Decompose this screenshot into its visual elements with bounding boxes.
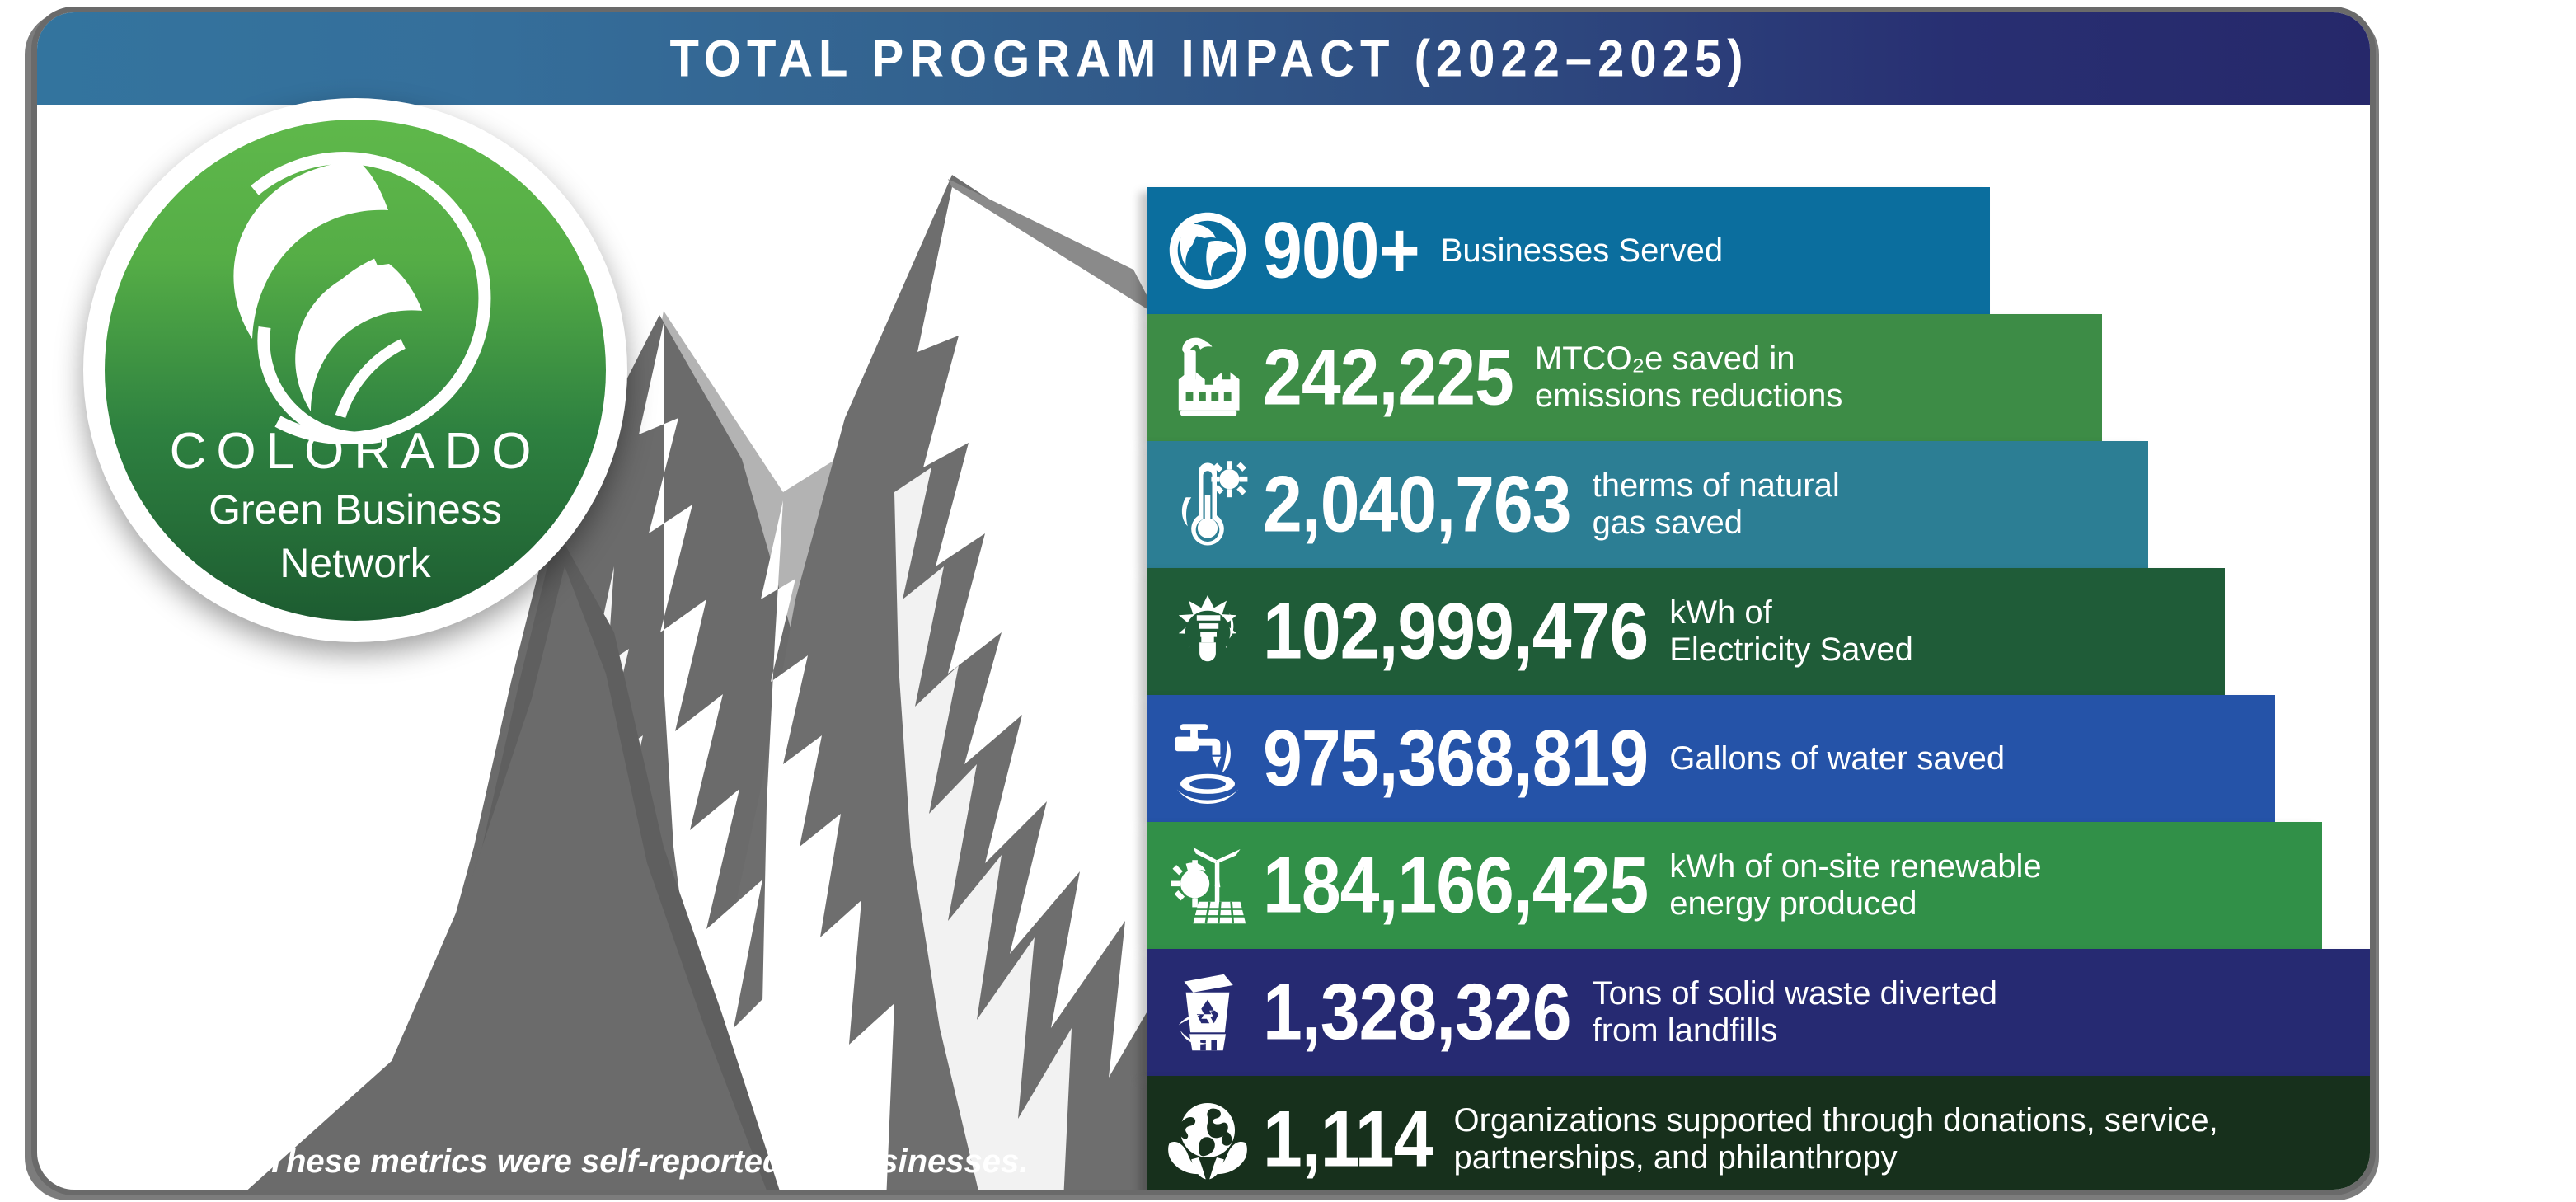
logo-line2-text: Green Business bbox=[105, 489, 606, 531]
metric-row-electricity[interactable]: 102,999,476 kWh of Electricity Saved bbox=[1147, 568, 2225, 695]
faucet-water-leaf-icon bbox=[1162, 709, 1253, 808]
logo-colorado-text: COLORADO bbox=[105, 426, 606, 477]
metric-row-natural-gas[interactable]: 2,040,763 therms of natural gas saved bbox=[1147, 441, 2148, 568]
thermometer-sun-icon bbox=[1162, 455, 1253, 554]
metric-label-line1: Gallons of water saved bbox=[1669, 740, 2005, 777]
metric-label: kWh of on-site renewable energy produced bbox=[1669, 848, 2041, 923]
recycle-bin-icon bbox=[1162, 963, 1253, 1062]
leaf-circle-icon bbox=[1162, 201, 1253, 300]
metric-value: 1,114 bbox=[1263, 1100, 1432, 1179]
metric-label-line2: gas saved bbox=[1593, 505, 1743, 541]
solar-wind-icon bbox=[1162, 836, 1253, 935]
metric-label: Organizations supported through donation… bbox=[1453, 1102, 2217, 1176]
metric-label-line2: emissions reductions bbox=[1535, 378, 1843, 414]
metric-label-line1: Organizations supported through donation… bbox=[1453, 1102, 2217, 1139]
metric-label: Tons of solid waste diverted from landfi… bbox=[1593, 975, 1997, 1049]
metric-value: 184,166,425 bbox=[1263, 846, 1648, 925]
metric-value: 1,328,326 bbox=[1263, 973, 1571, 1052]
factory-leaf-icon bbox=[1162, 328, 1253, 427]
metric-row-organizations[interactable]: 1,114 Organizations supported through do… bbox=[1147, 1076, 2376, 1195]
metric-label: Gallons of water saved bbox=[1669, 740, 2005, 777]
metric-label: kWh of Electricity Saved bbox=[1669, 594, 1913, 669]
metric-label: therms of natural gas saved bbox=[1593, 467, 1840, 542]
metric-label: MTCO₂e saved in emissions reductions bbox=[1535, 340, 1843, 415]
metric-label-line1: therms of natural bbox=[1593, 467, 1840, 504]
lightbulb-sun-icon bbox=[1162, 582, 1253, 681]
hands-globe-icon bbox=[1162, 1090, 1253, 1189]
infographic-card: TOTAL PROGRAM IMPACT (2022–2025) bbox=[31, 7, 2376, 1195]
metric-label-line2: energy produced bbox=[1669, 885, 1917, 922]
metric-row-waste-diverted[interactable]: 1,328,326 Tons of solid waste diverted f… bbox=[1147, 949, 2376, 1076]
metric-label-line1: MTCO₂e saved in bbox=[1535, 340, 1795, 377]
logo-wordmark: COLORADO Green Business Network bbox=[105, 426, 606, 585]
metric-row-businesses-served[interactable]: 900+ Businesses Served bbox=[1147, 187, 1990, 314]
metric-value: 2,040,763 bbox=[1263, 465, 1571, 544]
metric-value: 900+ bbox=[1263, 211, 1419, 290]
metric-value: 975,368,819 bbox=[1263, 719, 1648, 798]
metric-label: Businesses Served bbox=[1441, 232, 1723, 270]
logo-green-disc: COLORADO Green Business Network bbox=[105, 120, 606, 621]
metric-row-emissions[interactable]: 242,225 MTCO₂e saved in emissions reduct… bbox=[1147, 314, 2102, 441]
metric-label-line1: Businesses Served bbox=[1441, 232, 1723, 269]
metric-label-line1: Tons of solid waste diverted bbox=[1593, 975, 1997, 1012]
metric-label-line2: from landfills bbox=[1593, 1012, 1778, 1049]
metric-label-line2: Electricity Saved bbox=[1669, 632, 1913, 668]
metric-label-line2: partnerships, and philanthropy bbox=[1453, 1139, 1897, 1176]
metric-label-line1: kWh of on-site renewable bbox=[1669, 848, 2041, 885]
logo-badge: COLORADO Green Business Network bbox=[83, 98, 627, 642]
metric-row-water[interactable]: 975,368,819 Gallons of water saved bbox=[1147, 695, 2275, 822]
metric-label-line1: kWh of bbox=[1669, 594, 1771, 631]
logo-line3-text: Network bbox=[105, 542, 606, 585]
infographic-canvas: TOTAL PROGRAM IMPACT (2022–2025) bbox=[0, 0, 2576, 1202]
metric-row-renewable[interactable]: 184,166,425 kWh of on-site renewable ene… bbox=[1147, 822, 2322, 949]
metric-value: 242,225 bbox=[1263, 338, 1513, 417]
metric-value: 102,999,476 bbox=[1263, 592, 1648, 671]
